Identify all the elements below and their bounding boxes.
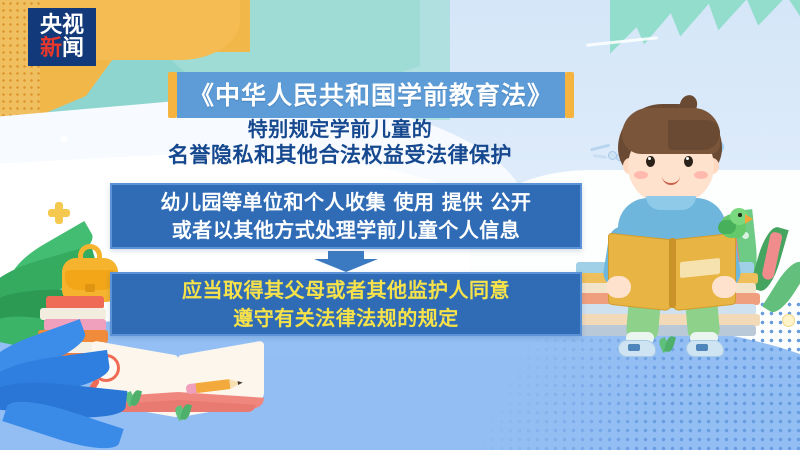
logo-text-xin: 新 [40, 38, 62, 60]
statement-line: 应当取得其父母或者其他监护人同意 [182, 276, 510, 304]
bottom-left-stationery-scene [0, 238, 260, 450]
plus-decor-icon [48, 202, 70, 224]
statement-line: 幼儿园等单位和个人收集 使用 提供 公开 [161, 188, 532, 216]
palm-leaf-icon [600, 0, 800, 100]
logo-text-yangshi: 央视 [40, 15, 84, 37]
logo-text-wen: 闻 [62, 38, 84, 60]
statement-line: 遵守有关法律法规的规定 [233, 304, 459, 332]
subtitle-line-2: 名誉隐私和其他合法权益受法律保护 [0, 142, 680, 170]
statement-box-requirement: 应当取得其父母或者其他监护人同意 遵守有关法律法规的规定 [110, 272, 582, 336]
title-accent-bar-left [168, 72, 177, 118]
statement-line: 或者以其他方式处理学前儿童个人信息 [172, 216, 521, 244]
logo-line-1: 央视 [40, 15, 84, 37]
logo-line-2: 新 闻 [40, 38, 84, 60]
logo-cctv-news[interactable]: 央视 新 闻 [28, 8, 96, 66]
sprout-icon [176, 404, 194, 420]
statement-box-condition: 幼儿园等单位和个人收集 使用 提供 公开 或者以其他方式处理学前儿童个人信息 [110, 183, 582, 249]
page-title: 《中华人民共和国学前教育法》 [168, 72, 574, 118]
title-band: 《中华人民共和国学前教育法》 [177, 72, 565, 118]
sprout-icon [126, 390, 140, 406]
parrot-icon [716, 208, 750, 240]
subtitle-line-1: 特别规定学前儿童的 [0, 116, 680, 142]
title-accent-bar-right [565, 72, 574, 118]
infographic-canvas: 央视 新 闻 《中华人民共和国学前教育法》 特别规定学前儿童的 名誉隐私和其他合… [0, 0, 800, 450]
down-arrow-icon [314, 251, 378, 271]
title-text: 《中华人民共和国学前教育法》 [189, 76, 553, 112]
subtitle: 特别规定学前儿童的 名誉隐私和其他合法权益受法律保护 [0, 116, 680, 170]
